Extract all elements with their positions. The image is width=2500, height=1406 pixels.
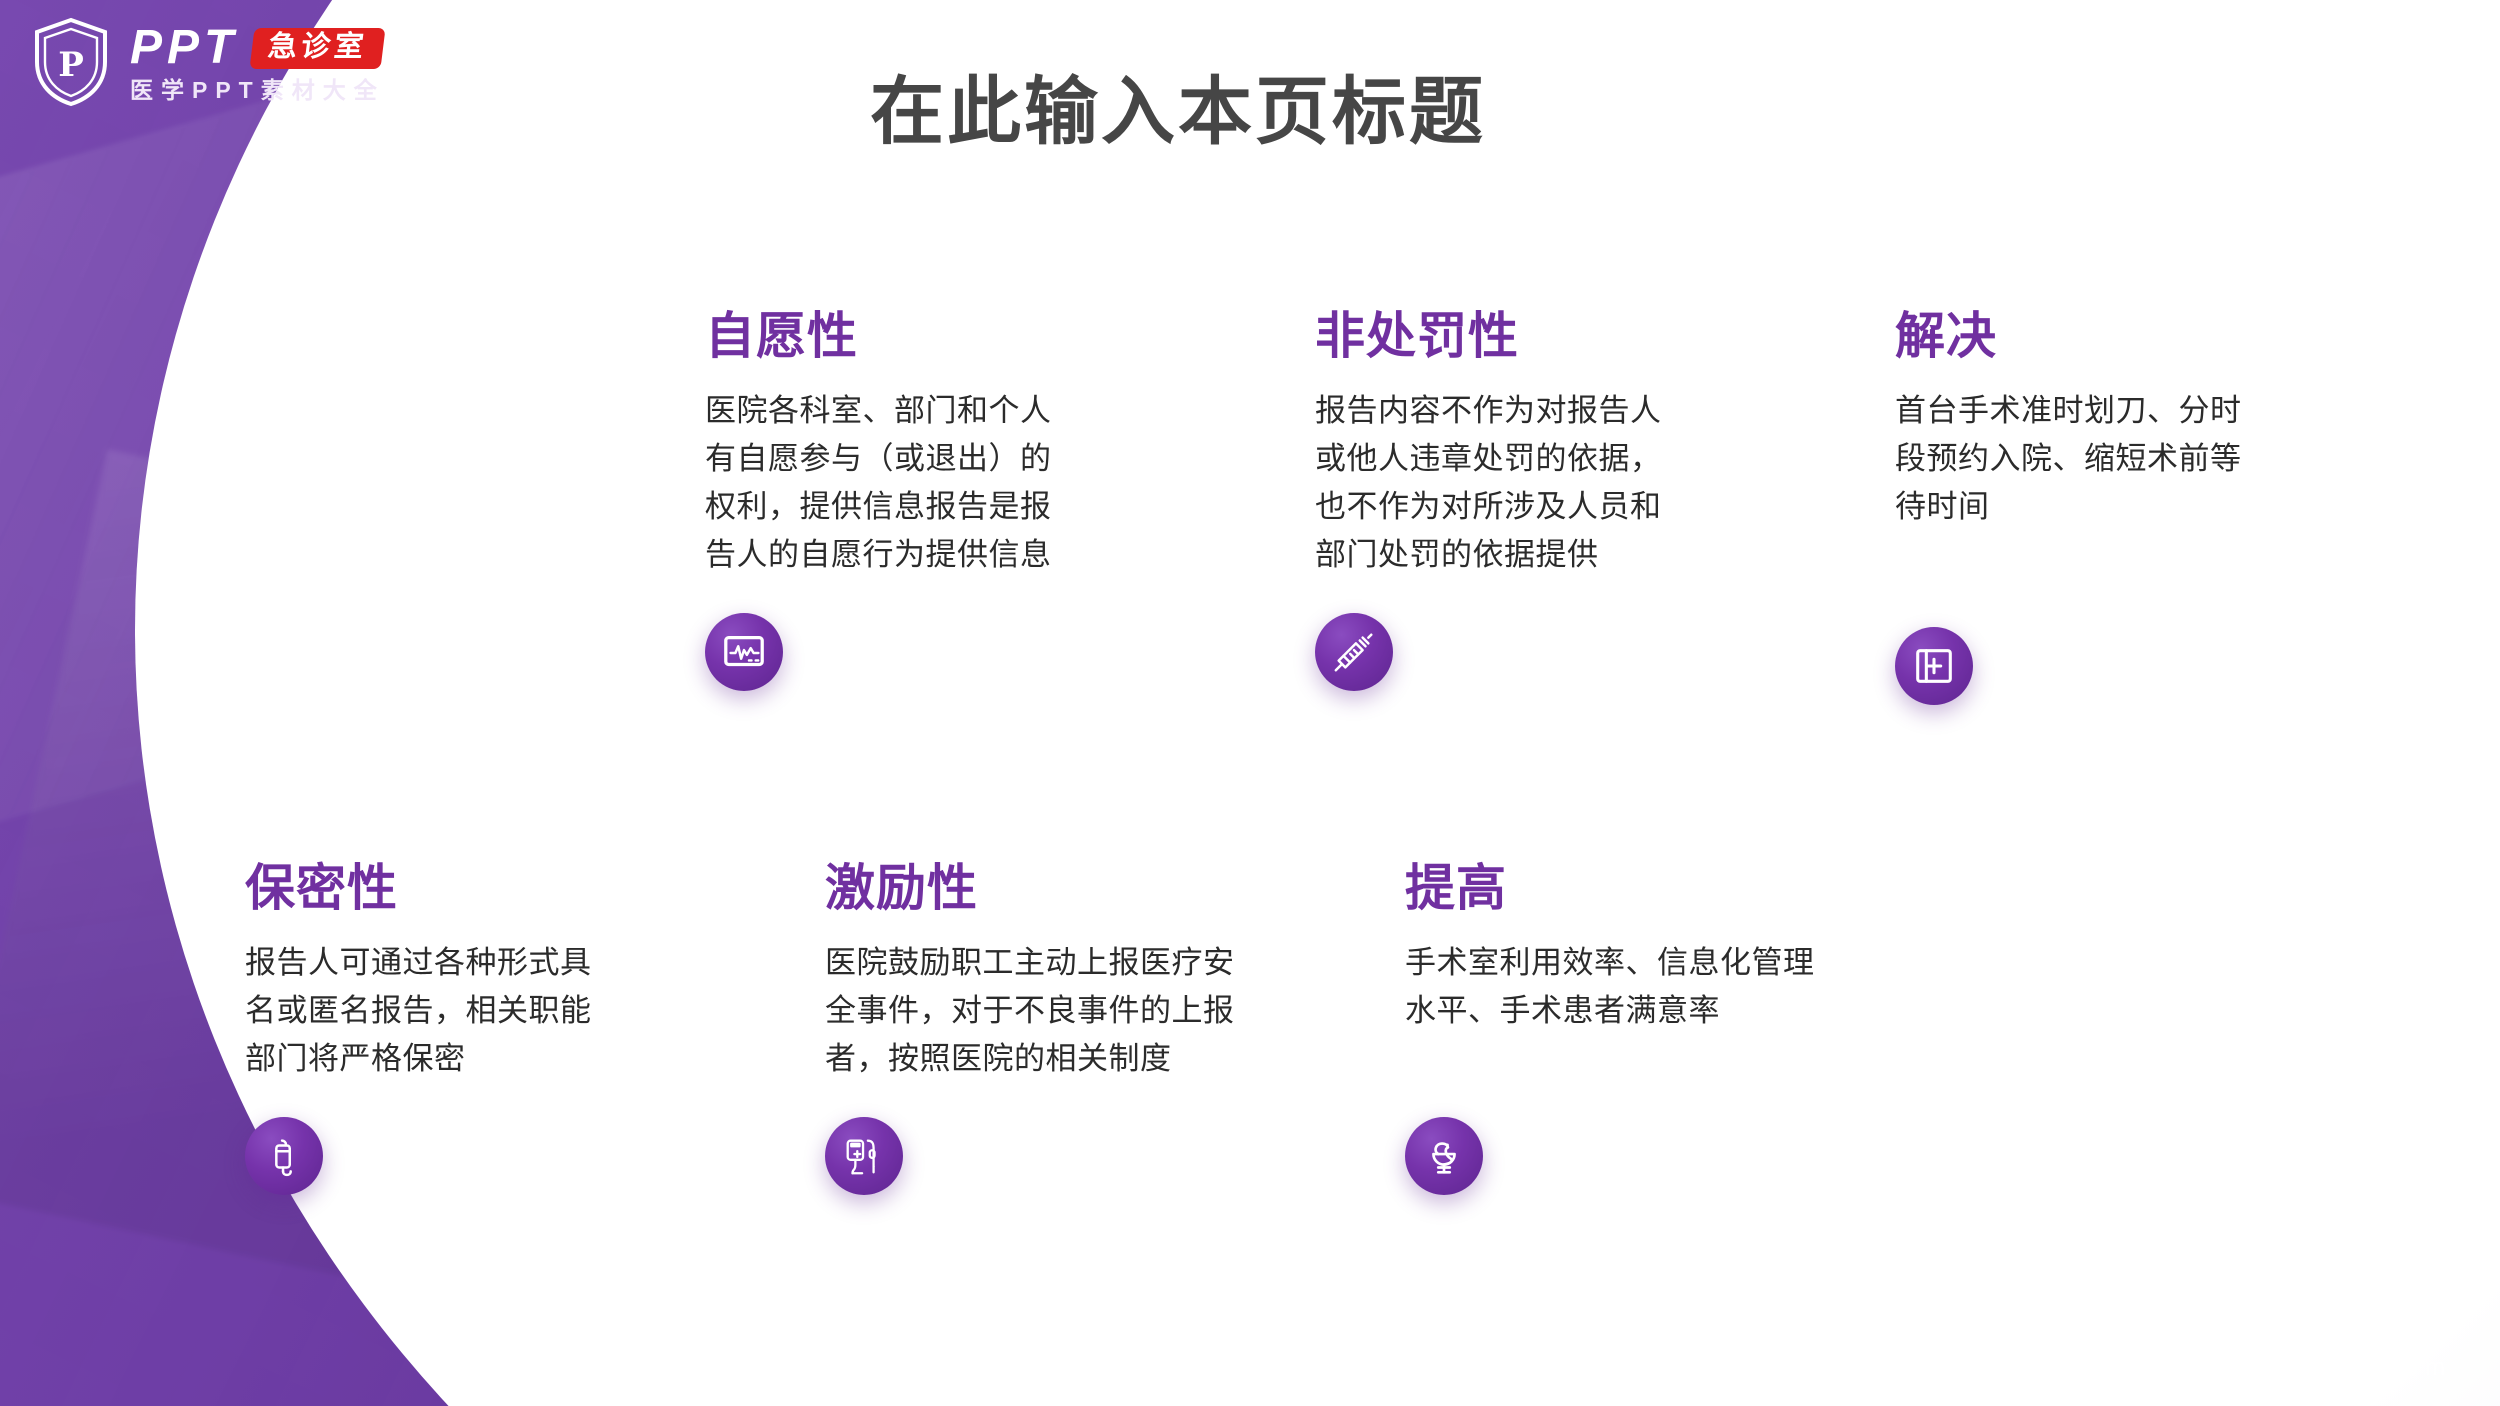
card-voluntary: 自愿性 医院各科室、部门和个人 有自愿参与（或退出）的 权利，提供信息报告是报 … [705,310,1052,691]
card-body-line: 者，按照医院的相关制度 [825,1035,1235,1083]
card-body-line: 医院各科室、部门和个人 [705,387,1052,435]
card-resolve: 解决 首台手术准时划刀、分时 段预约入院、缩短术前等 待时间 [1895,310,2242,705]
card-heading: 非处罚性 [1315,310,1662,363]
card-body-line: 段预约入院、缩短术前等 [1895,435,2242,483]
card-heading: 解决 [1895,310,2242,363]
iv-drip-icon[interactable] [245,1117,323,1195]
card-body: 报告人可通过各种形式具 名或匿名报告，相关职能 部门将严格保密 [245,939,592,1083]
footer-url: www.ppter.com [2198,1354,2452,1382]
card-heading: 自愿性 [705,310,1052,363]
card-body-line: 部门将严格保密 [245,1035,592,1083]
card-non-punitive: 非处罚性 报告内容不作为对报告人 或他人违章处罚的依据， 也不作为对所涉及人员和… [1315,310,1662,691]
card-body-line: 水平、手术患者满意率 [1405,987,1815,1035]
slide-canvas: P PPT 急诊室 医学PPT素材大全 在此输入本页标题 自愿性 医院各科室、部… [0,0,2500,1406]
card-body-line: 告人的自愿行为提供信息 [705,531,1052,579]
page-title: 在此输入本页标题 [870,52,1486,159]
logo-ppt-text: PPT [130,24,238,72]
card-body: 医院鼓励职工主动上报医疗安 全事件，对于不良事件的上报 者，按照医院的相关制度 [825,939,1235,1083]
brand-logo: P PPT 急诊室 医学PPT素材大全 [32,16,385,108]
card-body-line: 手术室利用效率、信息化管理 [1405,939,1815,987]
card-body-line: 名或匿名报告，相关职能 [245,987,592,1035]
card-body-line: 或他人违章处罚的依据， [1315,435,1662,483]
card-body: 首台手术准时划刀、分时 段预约入院、缩短术前等 待时间 [1895,387,2242,531]
svg-text:P: P [58,45,84,85]
card-body-line: 部门处罚的依据提供 [1315,531,1662,579]
card-body-line: 报告人可通过各种形式具 [245,939,592,987]
logo-tagline: 医学PPT素材大全 [130,79,385,102]
card-body-line: 医院鼓励职工主动上报医疗安 [825,939,1235,987]
shield-icon: P [32,16,110,108]
card-body-line: 待时间 [1895,483,2242,531]
card-body-line: 权利，提供信息报告是报 [705,483,1052,531]
card-body-line: 报告内容不作为对报告人 [1315,387,1662,435]
bowl-of-hygieia-icon[interactable] [1405,1117,1483,1195]
card-body-line: 全事件，对于不良事件的上报 [825,987,1235,1035]
card-heading: 提高 [1405,862,1815,915]
card-heading: 激励性 [825,862,1235,915]
card-improve: 提高 手术室利用效率、信息化管理 水平、手术患者满意率 [1405,862,1815,1195]
card-heading: 保密性 [245,862,592,915]
blood-bag-icon[interactable] [825,1117,903,1195]
card-body-line: 有自愿参与（或退出）的 [705,435,1052,483]
card-body: 手术室利用效率、信息化管理 水平、手术患者满意率 [1405,939,1815,1035]
card-body-line: 首台手术准时划刀、分时 [1895,387,2242,435]
heart-monitor-icon[interactable] [705,613,783,691]
card-body-line: 也不作为对所涉及人员和 [1315,483,1662,531]
logo-badge: 急诊室 [250,28,386,69]
card-confidential: 保密性 报告人可通过各种形式具 名或匿名报告，相关职能 部门将严格保密 [245,862,592,1195]
card-body: 报告内容不作为对报告人 或他人违章处罚的依据， 也不作为对所涉及人员和 部门处罚… [1315,387,1662,579]
card-body: 医院各科室、部门和个人 有自愿参与（或退出）的 权利，提供信息报告是报 告人的自… [705,387,1052,579]
card-incentive: 激励性 医院鼓励职工主动上报医疗安 全事件，对于不良事件的上报 者，按照医院的相… [825,862,1235,1195]
syringe-icon[interactable] [1315,613,1393,691]
medical-book-icon[interactable] [1895,627,1973,705]
